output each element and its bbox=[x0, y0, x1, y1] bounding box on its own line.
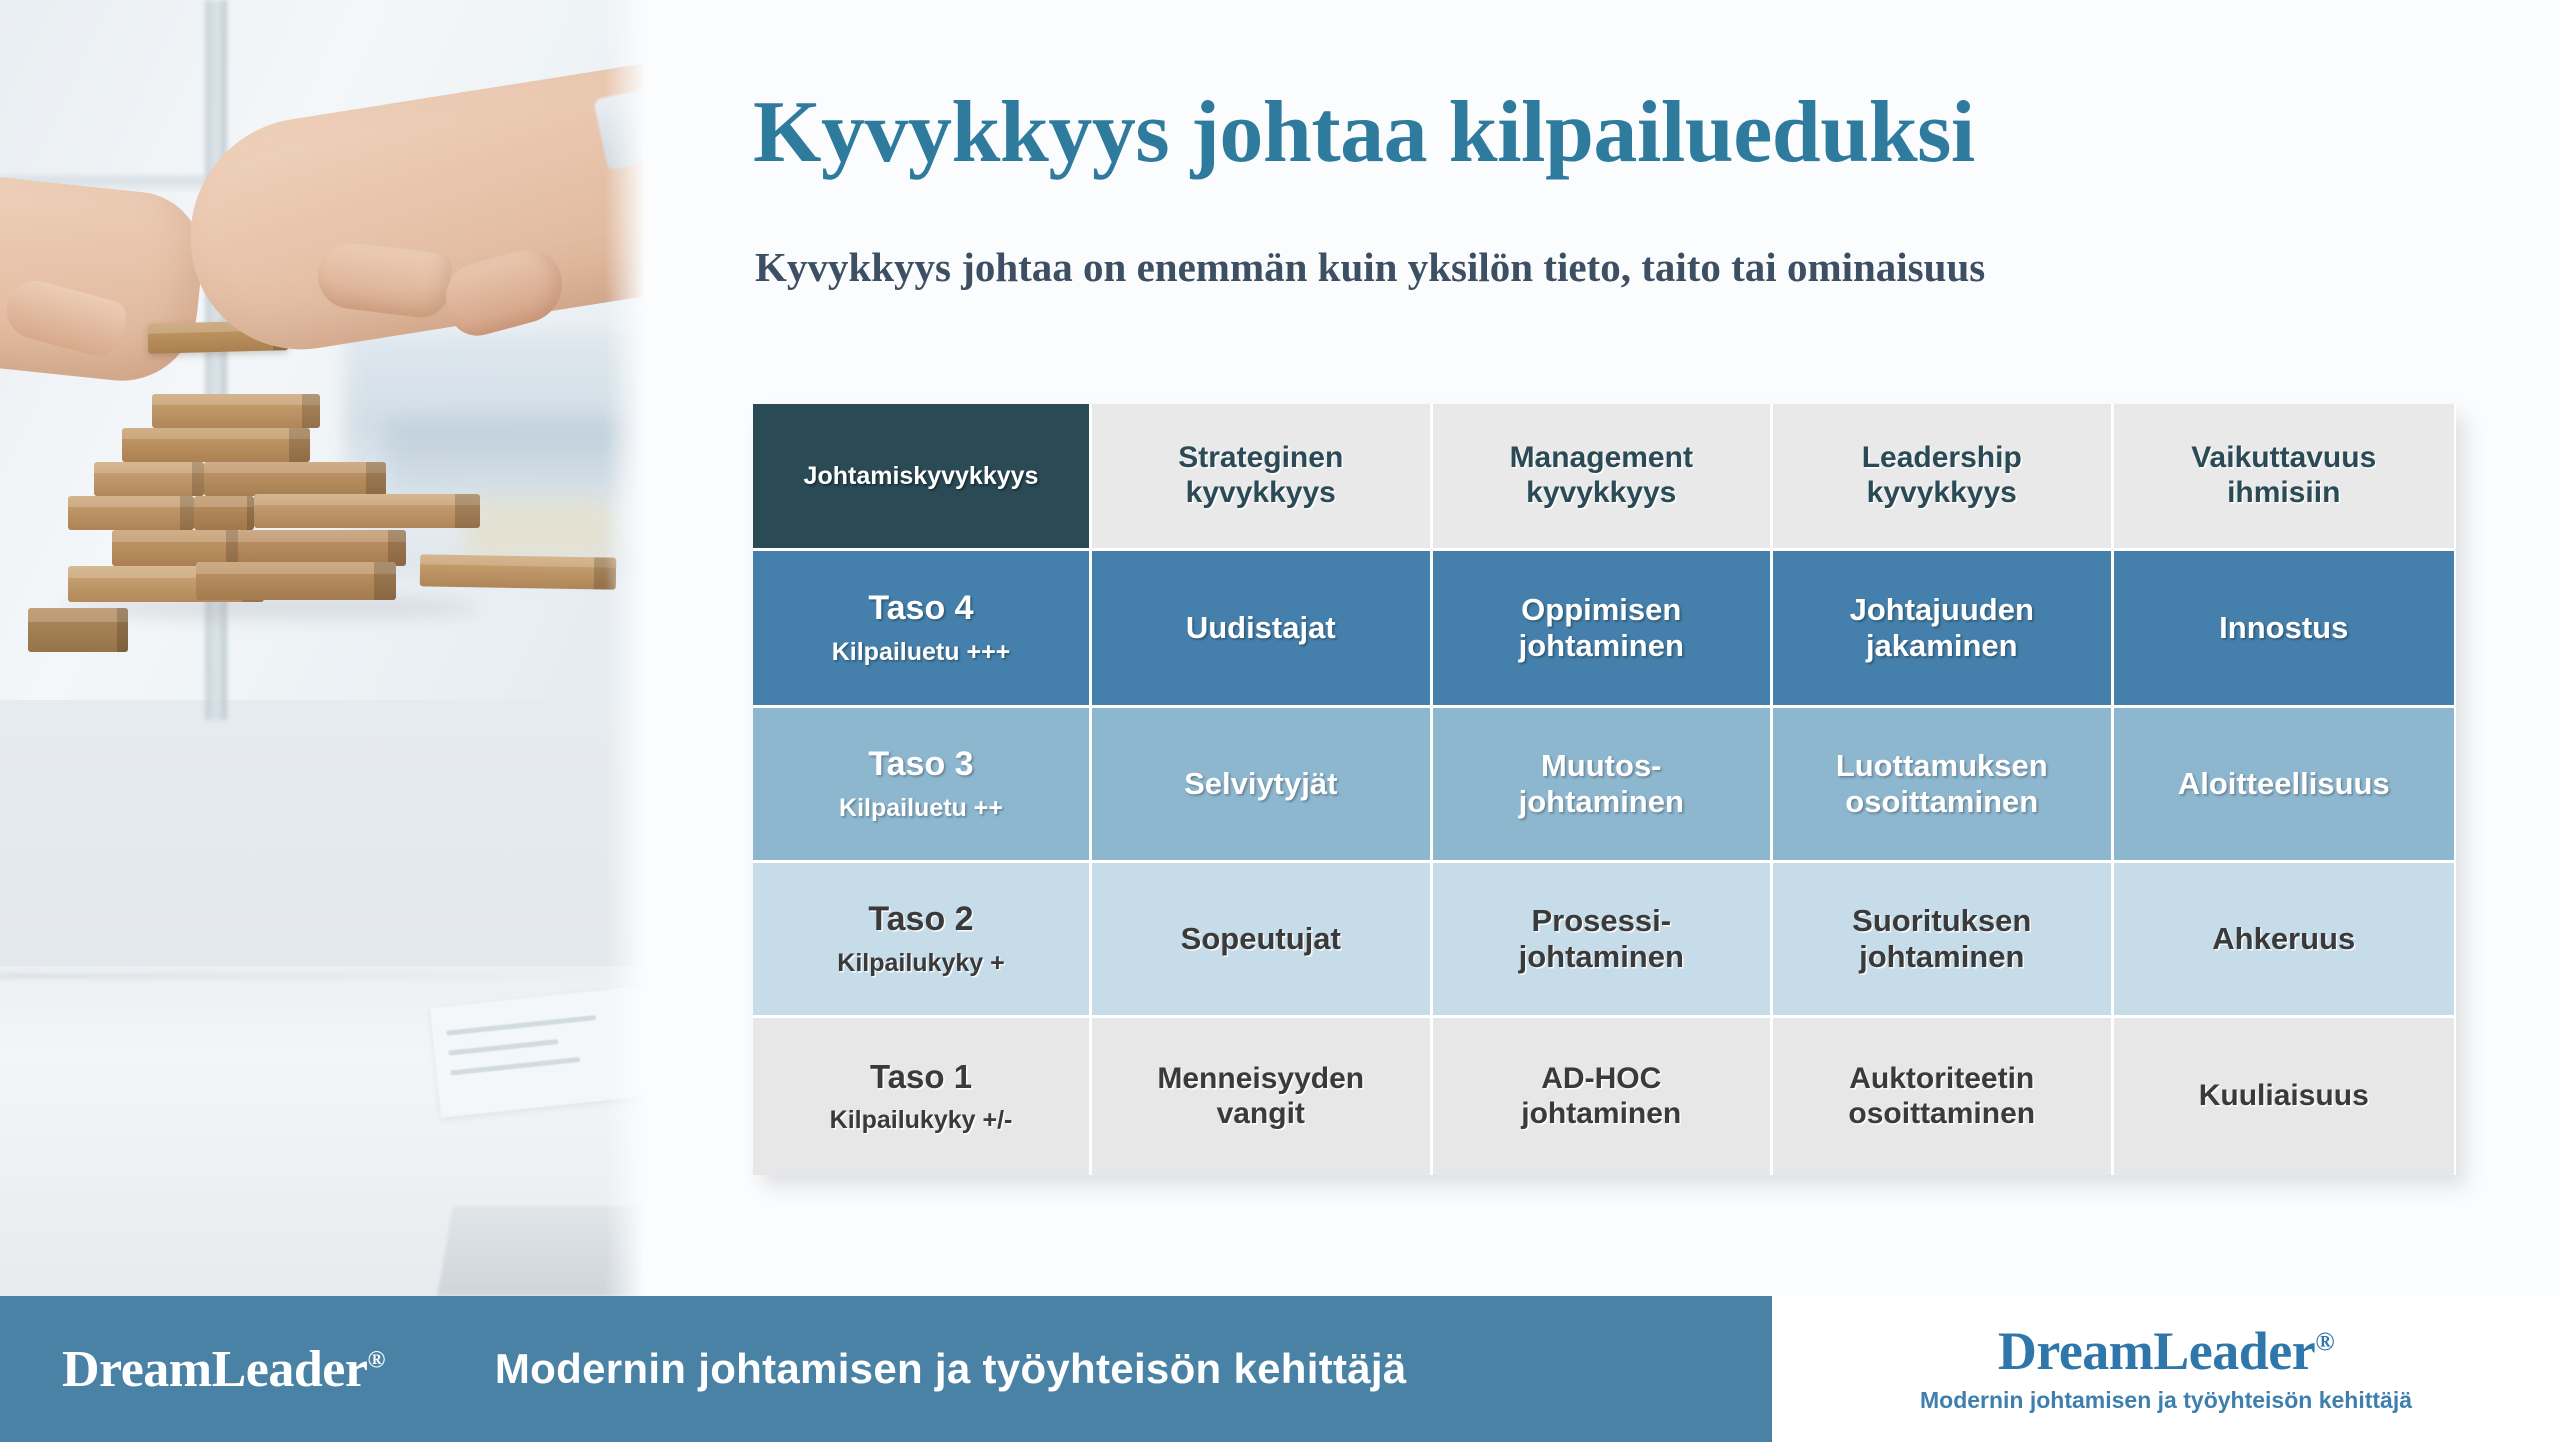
right-hand-finger bbox=[314, 239, 453, 321]
footer-logo: DreamLeader® bbox=[62, 1340, 385, 1399]
wooden-block bbox=[112, 530, 240, 566]
footer-tagline: Modernin johtamisen ja työyhteisön kehit… bbox=[495, 1345, 1407, 1393]
wooden-block bbox=[238, 530, 406, 566]
level-name: Taso 4 bbox=[868, 589, 973, 628]
cell-line1: Kuuliaisuus bbox=[2199, 1079, 2369, 1114]
table-header-label-line2: ihmisiin bbox=[2227, 476, 2340, 511]
registered-mark-icon: ® bbox=[367, 1347, 384, 1373]
table-cell: Uudistajat bbox=[1092, 551, 1433, 708]
table-header-cell-0: Johtamiskyvykkyys bbox=[753, 404, 1092, 551]
table-cell: Prosessi- johtaminen bbox=[1433, 863, 1774, 1018]
table-header-cell-3: Leadership kyvykkyys bbox=[1773, 404, 2114, 551]
capability-table: Johtamiskyvykkyys Strateginen kyvykkyys … bbox=[753, 404, 2456, 1175]
cell-line2: jakaminen bbox=[1866, 628, 2018, 664]
level-cell: Taso 2 Kilpailukyky + bbox=[753, 863, 1092, 1018]
level-name: Taso 3 bbox=[868, 745, 973, 784]
wooden-block bbox=[194, 496, 254, 530]
cell-line1: Johtajuuden bbox=[1850, 592, 2034, 628]
table-cell: Auktoriteetin osoittaminen bbox=[1773, 1018, 2114, 1175]
footer-right-logo: DreamLeader® bbox=[1998, 1324, 2334, 1378]
cell-line1: Suorituksen bbox=[1852, 903, 2031, 939]
hero-photo bbox=[0, 0, 645, 1296]
photo-edge-fade bbox=[605, 0, 645, 1296]
cell-line1: Uudistajat bbox=[1186, 610, 1336, 646]
table-cell: Luottamuksen osoittaminen bbox=[1773, 708, 2114, 863]
table-cell: Muutos- johtaminen bbox=[1433, 708, 1774, 863]
level-cell: Taso 4 Kilpailuetu +++ bbox=[753, 551, 1092, 708]
table-header-label-line1: Vaikuttavuus bbox=[2191, 441, 2376, 476]
table-header-cell-2: Management kyvykkyys bbox=[1433, 404, 1774, 551]
table-cell: Suorituksen johtaminen bbox=[1773, 863, 2114, 1018]
table-cell: Ahkeruus bbox=[2114, 863, 2455, 1018]
wooden-block bbox=[68, 496, 194, 530]
footer-right-logo-block: DreamLeader® Modernin johtamisen ja työy… bbox=[1772, 1296, 2560, 1442]
cell-line1: Menneisyyden bbox=[1157, 1062, 1364, 1097]
cell-line1: AD-HOC bbox=[1541, 1062, 1661, 1097]
registered-mark-icon: ® bbox=[2315, 1327, 2334, 1356]
level-name: Taso 1 bbox=[870, 1058, 972, 1096]
table-row: Taso 3 Kilpailuetu ++ Selviytyjät Muutos… bbox=[753, 708, 2456, 863]
level-cell: Taso 3 Kilpailuetu ++ bbox=[753, 708, 1092, 863]
wooden-block bbox=[204, 462, 386, 496]
footer-logo-name: DreamLeader bbox=[62, 1341, 367, 1398]
level-name: Taso 2 bbox=[868, 900, 973, 939]
level-advantage: Kilpailukyky +/- bbox=[830, 1106, 1013, 1135]
table-cell: AD-HOC johtaminen bbox=[1433, 1018, 1774, 1175]
wooden-block-loose bbox=[28, 608, 128, 652]
table-header-label-line2: kyvykkyys bbox=[1526, 476, 1676, 511]
wooden-block bbox=[152, 394, 320, 428]
level-advantage: Kilpailukyky + bbox=[837, 949, 1004, 978]
footer: DreamLeader® Modernin johtamisen ja työy… bbox=[0, 1296, 2560, 1442]
level-advantage: Kilpailuetu ++ bbox=[839, 794, 1003, 823]
desk-edge bbox=[0, 974, 645, 978]
content-panel: Kyvykkyys johtaa kilpailueduksi Kyvykkyy… bbox=[645, 0, 2560, 1296]
page-subtitle: Kyvykkyys johtaa on enemmän kuin yksilön… bbox=[755, 243, 1985, 291]
table-header-row: Johtamiskyvykkyys Strateginen kyvykkyys … bbox=[753, 404, 2456, 551]
cell-line1: Auktoriteetin bbox=[1849, 1062, 2034, 1097]
table-header-cell-1: Strateginen kyvykkyys bbox=[1092, 404, 1433, 551]
cell-line1: Selviytyjät bbox=[1184, 766, 1337, 802]
table-header-cell-4: Vaikuttavuus ihmisiin bbox=[2114, 404, 2455, 551]
cell-line2: johtaminen bbox=[1519, 939, 1684, 975]
cell-line1: Prosessi- bbox=[1531, 903, 1671, 939]
page-title: Kyvykkyys johtaa kilpailueduksi bbox=[753, 82, 1975, 183]
table-header-label-line1: Leadership bbox=[1862, 441, 2022, 476]
background-blur-warm bbox=[465, 500, 615, 560]
table-header-label-line1: Management bbox=[1510, 441, 1693, 476]
table-header-label: Johtamiskyvykkyys bbox=[804, 462, 1039, 491]
wooden-block bbox=[122, 428, 310, 462]
cell-line2: johtaminen bbox=[1519, 628, 1684, 664]
cell-line1: Aloitteellisuus bbox=[2178, 766, 2390, 802]
cell-line2: osoittaminen bbox=[1845, 784, 2038, 820]
cell-line1: Innostus bbox=[2219, 610, 2348, 646]
cell-line2: johtaminen bbox=[1519, 784, 1684, 820]
cell-line2: osoittaminen bbox=[1848, 1097, 2035, 1132]
table-row: Taso 1 Kilpailukyky +/- Menneisyyden van… bbox=[753, 1018, 2456, 1175]
left-hand-finger bbox=[0, 275, 129, 362]
cell-line1: Luottamuksen bbox=[1836, 748, 2048, 784]
footer-right-tagline: Modernin johtamisen ja työyhteisön kehit… bbox=[1920, 1387, 2412, 1414]
cell-line1: Oppimisen bbox=[1521, 592, 1681, 628]
cell-line1: Sopeutujat bbox=[1181, 921, 1341, 957]
wooden-block bbox=[254, 494, 480, 528]
table-header-label-line2: kyvykkyys bbox=[1867, 476, 2017, 511]
cell-line2: johtaminen bbox=[1521, 1097, 1681, 1132]
table-cell: Selviytyjät bbox=[1092, 708, 1433, 863]
table-header-label-line1: Strateginen bbox=[1178, 441, 1343, 476]
footer-bar: DreamLeader® Modernin johtamisen ja työy… bbox=[0, 1296, 1772, 1442]
table-cell: Oppimisen johtaminen bbox=[1433, 551, 1774, 708]
cell-line1: Muutos- bbox=[1541, 748, 1662, 784]
cell-line2: vangit bbox=[1217, 1097, 1305, 1132]
wooden-block bbox=[94, 462, 204, 496]
table-row: Taso 2 Kilpailukyky + Sopeutujat Prosess… bbox=[753, 863, 2456, 1018]
table-cell: Sopeutujat bbox=[1092, 863, 1433, 1018]
table-cell: Innostus bbox=[2114, 551, 2455, 708]
level-advantage: Kilpailuetu +++ bbox=[832, 638, 1011, 667]
level-cell: Taso 1 Kilpailukyky +/- bbox=[753, 1018, 1092, 1175]
table-cell: Kuuliaisuus bbox=[2114, 1018, 2455, 1175]
footer-right-logo-name: DreamLeader bbox=[1998, 1321, 2315, 1381]
cell-line1: Ahkeruus bbox=[2212, 921, 2355, 957]
table-header-label-line2: kyvykkyys bbox=[1186, 476, 1336, 511]
cell-line2: johtaminen bbox=[1859, 939, 2024, 975]
table-cell: Menneisyyden vangit bbox=[1092, 1018, 1433, 1175]
wooden-block bbox=[420, 554, 617, 589]
table-cell: Aloitteellisuus bbox=[2114, 708, 2455, 863]
table-row: Taso 4 Kilpailuetu +++ Uudistajat Oppimi… bbox=[753, 551, 2456, 708]
wooden-block bbox=[196, 562, 396, 600]
table-cell: Johtajuuden jakaminen bbox=[1773, 551, 2114, 708]
slide-root: Kyvykkyys johtaa kilpailueduksi Kyvykkyy… bbox=[0, 0, 2560, 1442]
